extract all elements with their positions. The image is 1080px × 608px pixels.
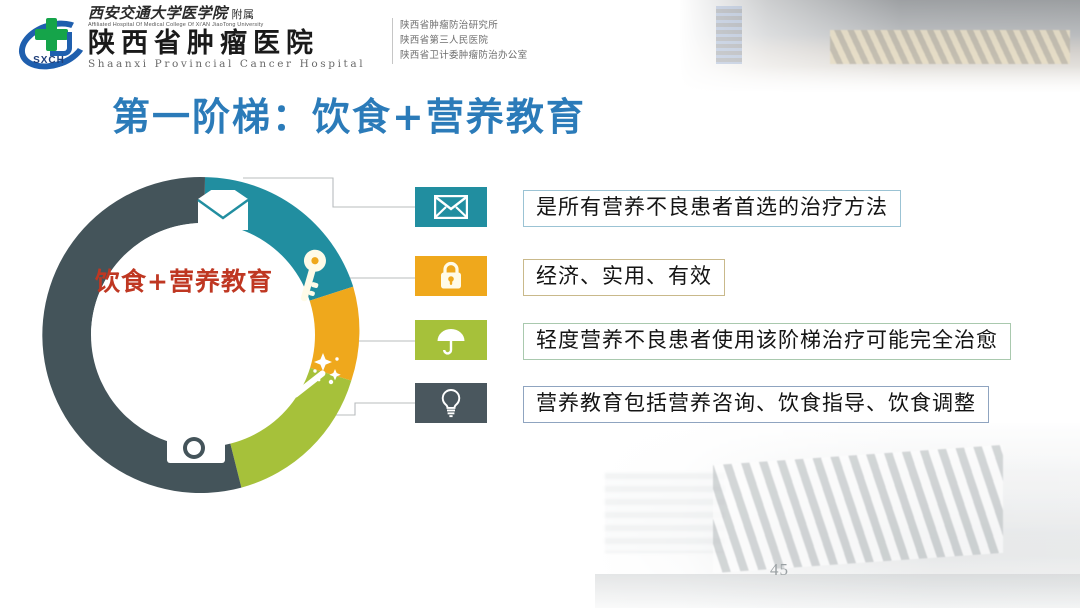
callout-text-1: 是所有营养不良患者首选的治疗方法 <box>536 195 888 219</box>
university-name-english: Affiliated Hospital Of Medical College O… <box>88 22 388 28</box>
callout-text-2: 经济、实用、有效 <box>536 264 712 288</box>
callout-box-2: 经济、实用、有效 <box>523 259 725 296</box>
university-suffix: 附属 <box>232 9 255 21</box>
org-line-1: 陕西省肿瘤防治研究所 <box>400 18 527 33</box>
callout-text-3: 轻度营养不良患者使用该阶梯治疗可能完全治愈 <box>536 328 998 352</box>
callout-box-4: 营养教育包括营养咨询、饮食指导、饮食调整 <box>523 386 989 423</box>
university-name: 西安交通大学医学院 <box>88 4 228 22</box>
envelope-icon <box>434 195 468 219</box>
page-title: 第一阶梯：饮食+营养教育 <box>112 86 586 141</box>
page-number: 45 <box>770 560 789 580</box>
callout-text-4: 营养教育包括营养咨询、饮食指导、饮食调整 <box>536 391 976 415</box>
hospital-name-chinese: 陕西省肿瘤医院 <box>88 29 388 58</box>
hospital-header: SXCH 西安交通大学医学院附属 Affiliated Hospital Of … <box>0 0 640 82</box>
lightbulb-icon <box>439 388 463 418</box>
org-line-2: 陕西省第三人民医院 <box>400 33 527 48</box>
hospital-name-english: Shaanxi Provincial Cancer Hospital <box>88 58 388 70</box>
lock-icon <box>438 261 464 291</box>
affiliated-organizations: 陕西省肿瘤防治研究所 陕西省第三人民医院 陕西省卫计委肿瘤防治办公室 <box>400 18 527 63</box>
item-tile-lightbulb[interactable] <box>415 383 487 423</box>
logo-abbr: SXCH <box>16 55 82 66</box>
donut-center-label: 饮食+营养教育 <box>69 262 299 298</box>
callout-box-1: 是所有营养不良患者首选的治疗方法 <box>523 190 901 227</box>
item-tile-envelope[interactable] <box>415 187 487 227</box>
umbrella-icon <box>436 325 466 355</box>
item-tile-umbrella[interactable] <box>415 320 487 360</box>
hospital-brand: 西安交通大学医学院附属 Affiliated Hospital Of Medic… <box>88 6 388 70</box>
university-affiliation-line: 西安交通大学医学院附属 <box>88 6 388 21</box>
org-line-3: 陕西省卫计委肿瘤防治办公室 <box>400 48 527 63</box>
process-donut-chart: 饮食+营养教育 <box>35 165 380 505</box>
item-tile-lock[interactable] <box>415 256 487 296</box>
header-divider <box>392 18 393 64</box>
slide-canvas: SXCH 西安交通大学医学院附属 Affiliated Hospital Of … <box>0 0 1080 608</box>
blue-hook-icon <box>50 32 72 56</box>
hospital-logo: SXCH <box>16 12 82 70</box>
donut-svg <box>35 165 380 505</box>
callout-box-3: 轻度营养不良患者使用该阶梯治疗可能完全治愈 <box>523 323 1011 360</box>
